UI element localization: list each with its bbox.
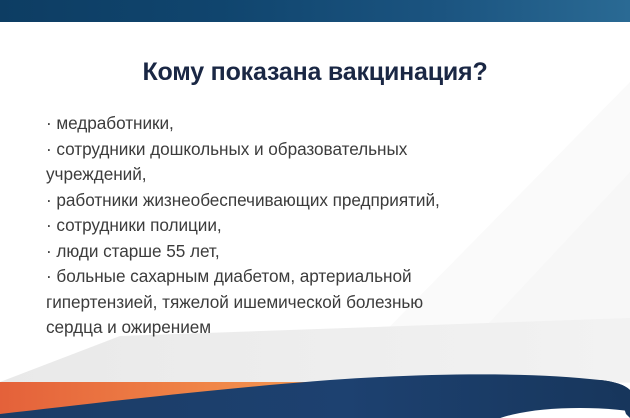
body-line: · больные сахарным диабетом, артериально… (46, 264, 591, 290)
body-line: гипертензией, тяжелой ишемической болезн… (46, 290, 591, 316)
top-banner (0, 0, 630, 22)
body-line: · работники жизнеобеспечивающих предприя… (46, 188, 591, 214)
body-line: учреждений, (46, 162, 591, 188)
body-line: сердца и ожирением (46, 315, 591, 341)
body-line: · сотрудники полиции, (46, 213, 591, 239)
body-line: · сотрудники дошкольных и образовательны… (46, 137, 591, 163)
slide-canvas: Кому показана вакцинация? · медработники… (0, 0, 630, 418)
page-title: Кому показана вакцинация? (0, 58, 630, 87)
body-text-block: · медработники, · сотрудники дошкольных … (46, 111, 591, 341)
body-line: · медработники, (46, 111, 591, 137)
body-line: · люди старше 55 лет, (46, 239, 591, 265)
